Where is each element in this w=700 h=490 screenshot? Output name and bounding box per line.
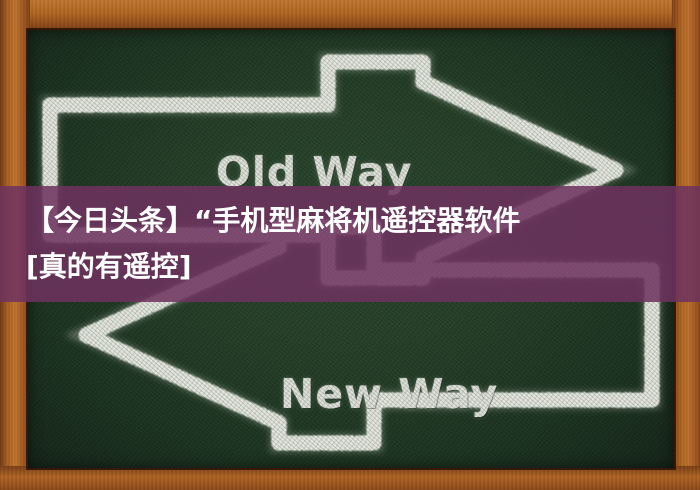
frame-bottom-rail [0, 466, 700, 490]
caption-banner: 【今日头条】“手机型麻将机遥控器软件 [真的有遥控] [0, 186, 700, 302]
caption-line-2: [真的有遥控] [26, 244, 674, 290]
frame-top-rail [0, 0, 700, 32]
caption-line-1: 【今日头条】“手机型麻将机遥控器软件 [26, 198, 674, 244]
new-way-label: New Way [280, 370, 498, 418]
screenshot-stage: Old Way New Way 【今日头条】“手机型麻将机遥控器软件 [真的有遥… [0, 0, 700, 490]
